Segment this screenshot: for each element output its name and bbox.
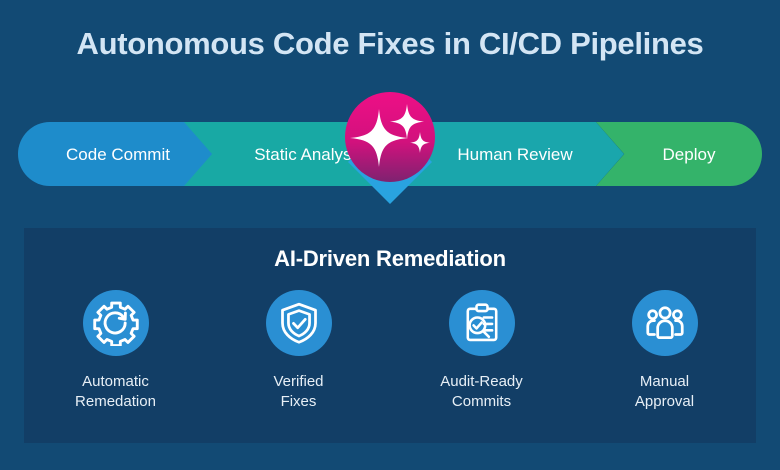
panel-heading: AI-Driven Remediation — [24, 246, 756, 272]
gear-refresh-icon — [83, 290, 149, 356]
feature-label: Manual Approval — [635, 372, 694, 412]
shield-check-icon — [266, 290, 332, 356]
feature-manual-approval[interactable]: Manual Approval — [581, 290, 749, 412]
feature-verified-fixes[interactable]: Verified Fixes — [215, 290, 383, 412]
feature-audit-ready-commits[interactable]: Audit-Ready Commits — [398, 290, 566, 412]
people-group-icon — [632, 290, 698, 356]
page-title: Autonomous Code Fixes in CI/CD Pipelines — [0, 24, 780, 64]
feature-label: Verified Fixes — [273, 372, 323, 412]
feature-list: Automatic Remedation Verified Fixes — [24, 290, 756, 412]
infographic-root: Autonomous Code Fixes in CI/CD Pipelines… — [0, 0, 780, 470]
remediation-panel: AI-Driven Remediation Automatic Remedati… — [24, 228, 756, 443]
pipeline-stage-label: Deploy — [637, 144, 722, 165]
feature-label: Audit-Ready Commits — [440, 372, 523, 412]
pipeline-stage-code-commit[interactable]: Code Commit — [18, 122, 218, 186]
ai-sparkle-pin-icon — [341, 88, 439, 206]
feature-automatic-remediation[interactable]: Automatic Remedation — [32, 290, 200, 412]
pipeline-stage-label: Human Review — [435, 144, 578, 165]
clipboard-magnifier-check-icon — [449, 290, 515, 356]
feature-label: Automatic Remedation — [75, 372, 156, 412]
pipeline-stage-label: Code Commit — [60, 144, 176, 165]
